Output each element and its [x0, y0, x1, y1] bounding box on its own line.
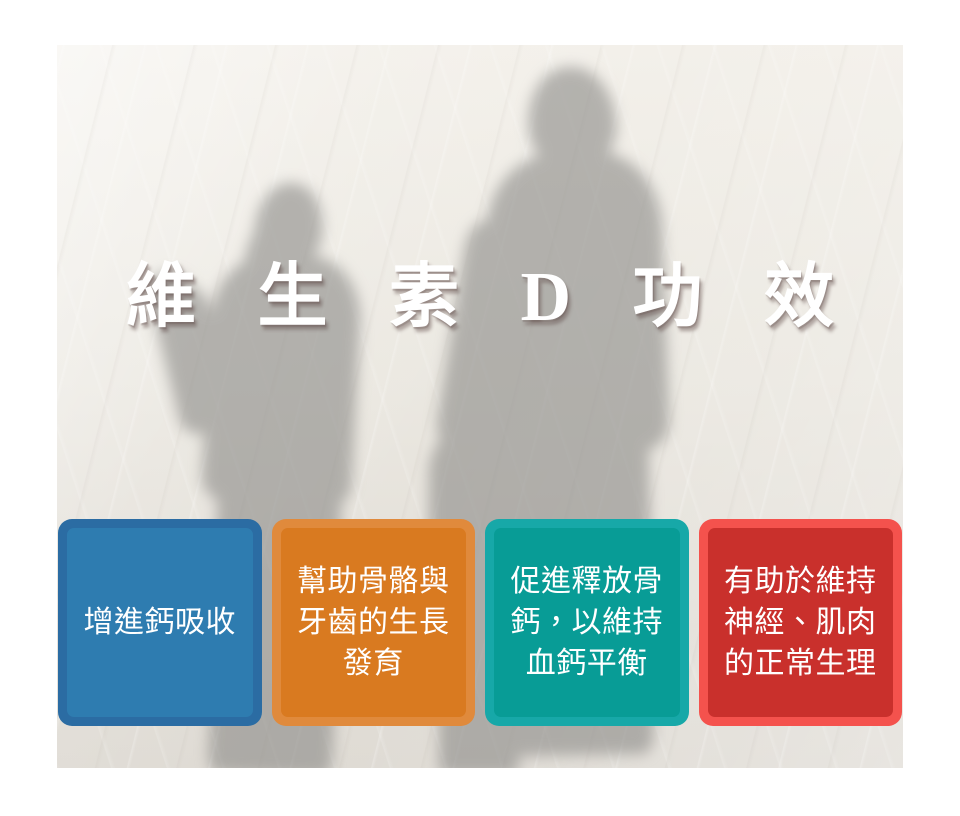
benefit-label: 幫助骨骼與 牙齒的生長 發育: [297, 561, 450, 684]
benefit-label: 增進鈣吸收: [84, 602, 237, 643]
benefit-card-bone-teeth-growth: 幫助骨骼與 牙齒的生長 發育: [272, 519, 476, 726]
benefit-card-nerve-muscle-function: 有助於維持 神經、肌肉 的正常生理: [699, 519, 903, 726]
benefit-card-inner: 有助於維持 神經、肌肉 的正常生理: [708, 528, 894, 717]
benefit-label: 促進釋放骨 鈣，以維持 血鈣平衡: [511, 561, 664, 684]
benefit-card-inner: 幫助骨骼與 牙齒的生長 發育: [281, 528, 467, 717]
page-margin-top: [0, 0, 960, 45]
benefit-label: 有助於維持 神經、肌肉 的正常生理: [724, 561, 877, 684]
page-margin-bottom: [0, 768, 960, 816]
benefit-card-inner: 增進鈣吸收: [67, 528, 253, 717]
benefits-row: 增進鈣吸收 幫助骨骼與 牙齒的生長 發育 促進釋放骨 鈣，以維持 血鈣平衡 有助…: [57, 519, 903, 726]
page-title: 維 生 素 D 功 效: [57, 263, 903, 333]
benefit-card-inner: 促進釋放骨 鈣，以維持 血鈣平衡: [494, 528, 680, 717]
page-margin-left: [0, 0, 57, 816]
poster-slide: 維 生 素 D 功 效 增進鈣吸收 幫助骨骼與 牙齒的生長 發育 促進釋放骨 鈣…: [0, 0, 960, 816]
benefit-card-bone-calcium-release: 促進釋放骨 鈣，以維持 血鈣平衡: [485, 519, 689, 726]
poster-image: 維 生 素 D 功 效 增進鈣吸收 幫助骨骼與 牙齒的生長 發育 促進釋放骨 鈣…: [57, 45, 903, 768]
page-margin-right: [903, 0, 960, 816]
benefit-card-calcium-absorption: 增進鈣吸收: [58, 519, 262, 726]
